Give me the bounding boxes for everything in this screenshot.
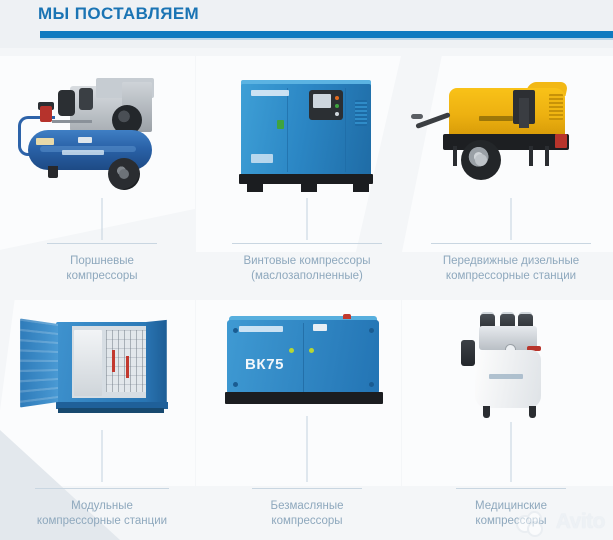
connector-line (511, 422, 512, 482)
title-underline-shadow (40, 38, 613, 40)
avito-watermark: Avito (516, 510, 605, 534)
connector-line (307, 198, 308, 240)
caption-rule (252, 488, 362, 489)
mobile-diesel-station-icon (409, 58, 613, 198)
product-caption: Винтовые компрессоры (маслозаполненные) (205, 254, 409, 284)
connector-line (511, 198, 512, 240)
avito-wordmark: Avito (556, 510, 605, 534)
connector-line (102, 198, 103, 240)
product-grid: Поршневые компрессоры (0, 48, 613, 540)
product-image-piston (0, 58, 204, 198)
product-caption: Модульные компрессорные станции (0, 499, 204, 529)
product-caption: Поршневые компрессоры (0, 254, 204, 284)
avito-logo-icon (516, 511, 552, 533)
product-image-modular (0, 298, 204, 438)
header: МЫ ПОСТАВЛЯЕМ (0, 0, 613, 48)
caption-rule (47, 243, 157, 244)
screw-compressor-icon (205, 58, 409, 198)
product-card-medical[interactable]: Медицинские компрессоры (409, 298, 613, 438)
page-title: МЫ ПОСТАВЛЯЕМ (38, 4, 199, 24)
caption-rule (232, 243, 382, 244)
product-card-piston[interactable]: Поршневые компрессоры (0, 58, 204, 198)
caption-rule (35, 488, 169, 489)
caption-rule (431, 243, 591, 244)
piston-compressor-icon (0, 58, 204, 198)
caption-rule (456, 488, 566, 489)
product-caption: Передвижные дизельные компрессорные стан… (409, 254, 613, 284)
product-card-modular[interactable]: Модульные компрессорные станции (0, 298, 204, 438)
product-image-mobile-diesel (409, 58, 613, 198)
product-card-oil-free[interactable]: ВК75 Безмасляные компрессоры (205, 298, 409, 438)
medical-compressor-icon (409, 298, 613, 438)
title-underline-bar (40, 31, 613, 38)
product-image-screw (205, 58, 409, 198)
product-card-screw[interactable]: Винтовые компрессоры (маслозаполненные) (205, 58, 409, 198)
product-caption: Безмасляные компрессоры (205, 499, 409, 529)
modular-container-station-icon (0, 298, 204, 438)
connector-line (307, 416, 308, 482)
product-card-mobile-diesel[interactable]: Передвижные дизельные компрессорные стан… (409, 58, 613, 198)
product-image-medical (409, 298, 613, 438)
connector-line (102, 430, 103, 482)
model-label: ВК75 (245, 356, 284, 373)
